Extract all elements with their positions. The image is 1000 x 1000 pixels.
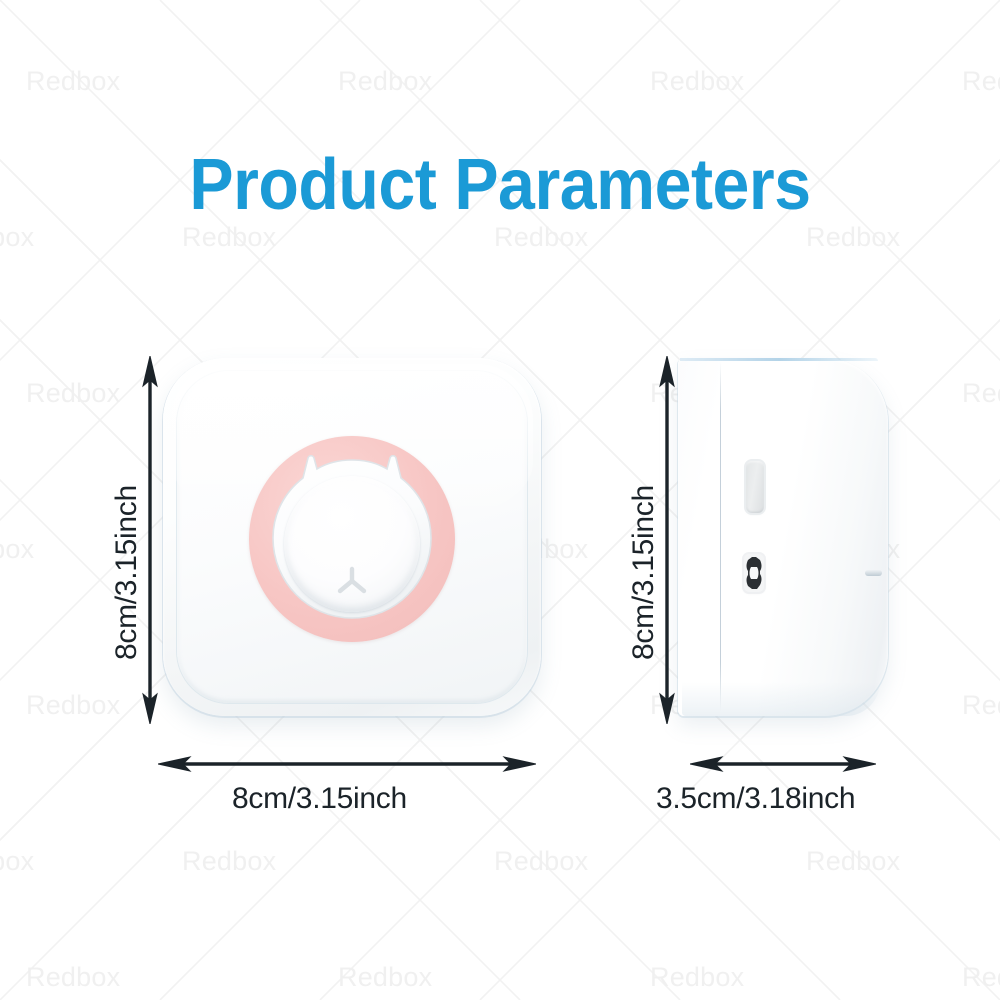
front-width-label: 8cm/3.15inch: [232, 782, 407, 816]
front-width-arrow: [158, 750, 536, 778]
side-notch: [865, 570, 882, 576]
micro-usb-port[interactable]: [744, 554, 764, 592]
side-height-label: 8cm/3.15inch: [627, 485, 661, 660]
front-height-label: 8cm/3.15inch: [110, 485, 144, 660]
page-title: Product Parameters: [40, 148, 960, 224]
power-button[interactable]: [284, 476, 420, 612]
power-switch[interactable]: [746, 461, 764, 513]
side-seam-line: [720, 362, 721, 712]
product-parameters-image: Redbox Redbox Redbox Redbox Redbox Redbo…: [0, 0, 1000, 1000]
side-width-label: 3.5cm/3.18inch: [656, 782, 855, 816]
side-width-arrow: [690, 750, 876, 778]
product-side-view: [678, 358, 888, 716]
side-top-edge-highlight: [680, 358, 878, 361]
y-logo-icon: [335, 566, 369, 596]
side-body-shell: [678, 358, 888, 716]
product-front-view: [163, 358, 541, 716]
